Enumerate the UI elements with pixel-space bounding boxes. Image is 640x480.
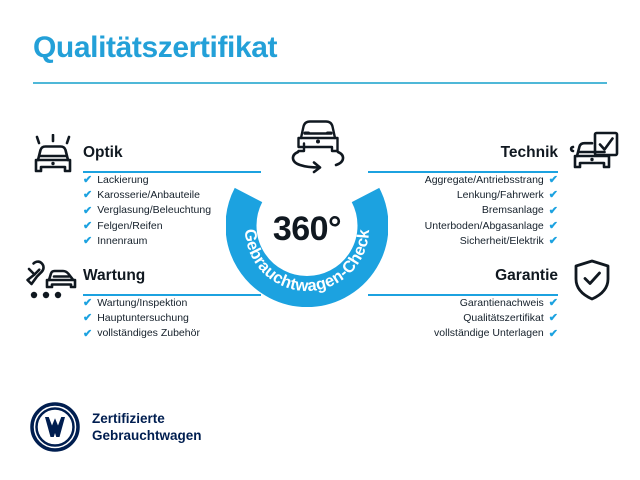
title-divider (33, 82, 607, 84)
check-icon: ✔ (549, 298, 558, 309)
vw-footer-line2: Gebrauchtwagen (92, 427, 202, 444)
check-icon: ✔ (83, 206, 92, 217)
check-icon: ✔ (549, 329, 558, 340)
vw-logo (30, 402, 80, 452)
list-item-label: vollständiges Zubehör (97, 326, 200, 341)
list-item-label: Bremsanlage (482, 203, 544, 218)
list-item: ✔Hauptuntersuchung (83, 311, 258, 326)
check-icon: ✔ (549, 236, 558, 247)
list-item-label: Garantienachweis (460, 296, 544, 311)
badge-ring: Gebrauchtwagen-Check (226, 148, 388, 310)
vw-footer-line1: Zertifizierte (92, 410, 202, 427)
check-icon: ✔ (549, 175, 558, 186)
check-icon: ✔ (83, 329, 92, 340)
list-item: Qualitätszertifikat✔ (368, 311, 558, 326)
check-icon: ✔ (83, 190, 92, 201)
check-icon: ✔ (549, 313, 558, 324)
list-item-label: Verglasung/Beleuchtung (97, 203, 211, 218)
check-icon: ✔ (549, 221, 558, 232)
list-item-label: Lackierung (97, 173, 148, 188)
shield-check-icon (572, 258, 612, 307)
list-item: vollständige Unterlagen✔ (368, 326, 558, 341)
car-checkbox-icon (566, 131, 620, 182)
list-item-label: Unterboden/Abgasanlage (425, 219, 544, 234)
check-icon: ✔ (83, 236, 92, 247)
list-item-label: Lenkung/Fahrwerk (457, 188, 544, 203)
check-icon: ✔ (83, 221, 92, 232)
list-item-label: vollständige Unterlagen (434, 326, 544, 341)
page-title: Qualitätszertifikat (33, 33, 277, 63)
list-item-label: Felgen/Reifen (97, 219, 162, 234)
list-item-label: Karosserie/Anbauteile (97, 188, 200, 203)
check-icon: ✔ (83, 298, 92, 309)
check-icon: ✔ (83, 313, 92, 324)
vw-footer-text: Zertifizierte Gebrauchtwagen (92, 410, 202, 444)
list-item-label: Innenraum (97, 234, 147, 249)
check-icon: ✔ (549, 206, 558, 217)
check-icon: ✔ (83, 175, 92, 186)
shiny-car-icon (27, 134, 79, 185)
service-wrench-car-icon (25, 259, 79, 308)
vw-certified-footer: Zertifizierte Gebrauchtwagen (30, 402, 202, 452)
list-item-label: Aggregate/Antriebsstrang (425, 173, 544, 188)
360-gebrauchtwagen-check-badge: Gebrauchtwagen-Check 360° (226, 112, 414, 310)
list-item-label: Sicherheit/Elektrik (460, 234, 544, 249)
list-item: ✔vollständiges Zubehör (83, 326, 258, 341)
list-item-label: Wartung/Inspektion (97, 296, 187, 311)
list-item-label: Qualitätszertifikat (463, 311, 544, 326)
check-icon: ✔ (549, 190, 558, 201)
list-item-label: Hauptuntersuchung (97, 311, 189, 326)
